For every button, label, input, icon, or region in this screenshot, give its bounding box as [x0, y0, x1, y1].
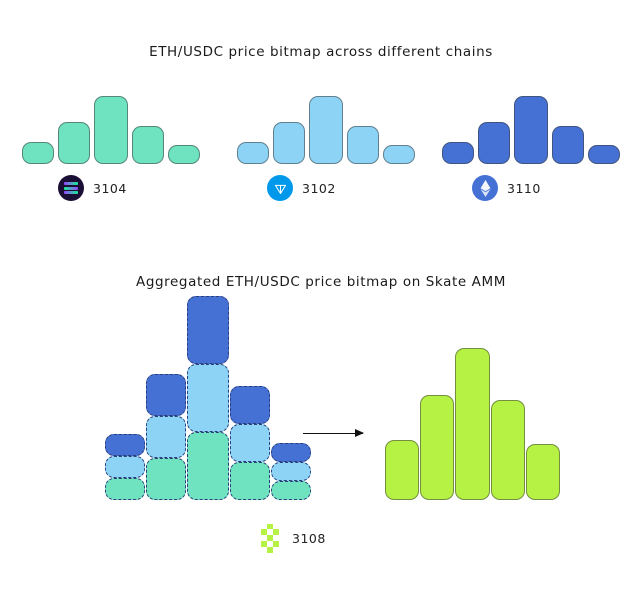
stacked-column-4	[230, 386, 270, 500]
chain-legend-ethereum: 3110	[472, 175, 541, 201]
segment-ethereum-2	[146, 374, 186, 416]
skate-legend: 3108	[258, 524, 326, 552]
segment-solana-4	[230, 462, 270, 500]
chain-legend-solana: 3104	[58, 175, 127, 201]
segment-ton-5	[271, 462, 311, 481]
bar-ton-5	[383, 145, 415, 164]
aggregation-arrow	[303, 433, 363, 434]
segment-ethereum-5	[271, 443, 311, 462]
segment-ton-4	[230, 424, 270, 462]
bar-ethereum-3	[514, 96, 548, 164]
chain-legend-ton: 3102	[267, 175, 336, 201]
bar-solana-4	[132, 126, 164, 164]
solana-bitmap-bars	[18, 88, 198, 164]
solana-glyph-bars	[64, 182, 78, 194]
bar-ton-2	[273, 122, 305, 164]
ton-diamond-glyph	[273, 181, 288, 196]
bar-ton-1	[237, 142, 269, 164]
segment-solana-3	[187, 432, 229, 500]
bar-skate-4	[491, 400, 525, 500]
bar-ethereum-2	[478, 122, 510, 164]
bar-skate-5	[526, 444, 560, 500]
bar-ethereum-1	[442, 142, 474, 164]
chain-price-ethereum: 3110	[507, 181, 541, 196]
aggregated-stacked-chart	[105, 340, 285, 500]
segment-ton-1	[105, 456, 145, 478]
segment-ethereum-1	[105, 434, 145, 456]
bar-skate-1	[385, 440, 419, 500]
bar-solana-1	[22, 142, 54, 164]
segment-ton-3	[187, 364, 229, 432]
segment-solana-1	[105, 478, 145, 500]
bar-ethereum-4	[552, 126, 584, 164]
ethereum-diamond-glyph	[479, 180, 492, 197]
segment-solana-5	[271, 481, 311, 500]
skate-aggregated-bars	[385, 338, 550, 500]
solana-icon	[58, 175, 84, 201]
chain-price-ton: 3102	[302, 181, 336, 196]
page-title-top: ETH/USDC price bitmap across different c…	[0, 44, 642, 60]
stacked-column-2	[146, 374, 186, 500]
bar-ton-3	[309, 96, 343, 164]
ethereum-icon	[472, 175, 498, 201]
skate-icon	[258, 524, 282, 552]
ethereum-bitmap-bars	[438, 88, 618, 164]
chain-price-solana: 3104	[93, 181, 127, 196]
segment-ton-2	[146, 416, 186, 458]
stacked-column-1	[105, 434, 145, 500]
segment-solana-2	[146, 458, 186, 500]
diagram-canvas: ETH/USDC price bitmap across different c…	[0, 0, 642, 605]
bar-skate-2	[420, 395, 454, 500]
page-title-bottom: Aggregated ETH/USDC price bitmap on Skat…	[0, 274, 642, 290]
ton-bitmap-bars	[233, 88, 413, 164]
bar-ton-4	[347, 126, 379, 164]
stacked-column-5	[271, 443, 311, 500]
skate-price: 3108	[292, 531, 326, 546]
bar-solana-5	[168, 145, 200, 164]
stacked-column-3	[187, 296, 229, 500]
bar-solana-3	[94, 96, 128, 164]
segment-ethereum-4	[230, 386, 270, 424]
segment-ethereum-3	[187, 296, 229, 364]
bar-skate-3	[455, 348, 490, 500]
bar-ethereum-5	[588, 145, 620, 164]
ton-icon	[267, 175, 293, 201]
bar-solana-2	[58, 122, 90, 164]
